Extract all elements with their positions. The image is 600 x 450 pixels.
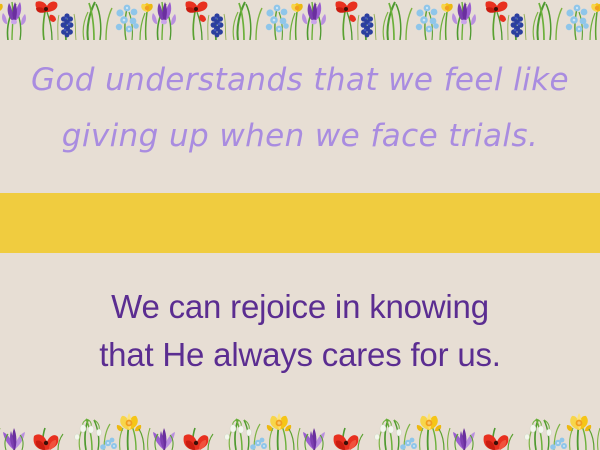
statement-text-block: We can rejoice in knowing that He always… xyxy=(0,283,600,379)
statement-line-2: that He always cares for us. xyxy=(0,331,600,379)
quote-text-block: God understands that we feel like giving… xyxy=(0,52,600,164)
accent-band xyxy=(0,193,600,253)
quote-poster: God understands that we feel like giving… xyxy=(0,0,600,450)
floral-border-top xyxy=(0,0,600,40)
quote-line-1: God understands that we feel like xyxy=(0,52,600,108)
statement-line-1: We can rejoice in knowing xyxy=(0,283,600,331)
floral-top-artwork xyxy=(0,0,600,40)
floral-border-bottom xyxy=(0,410,600,450)
floral-bottom-artwork xyxy=(0,410,600,450)
quote-line-2: giving up when we face trials. xyxy=(0,108,600,164)
